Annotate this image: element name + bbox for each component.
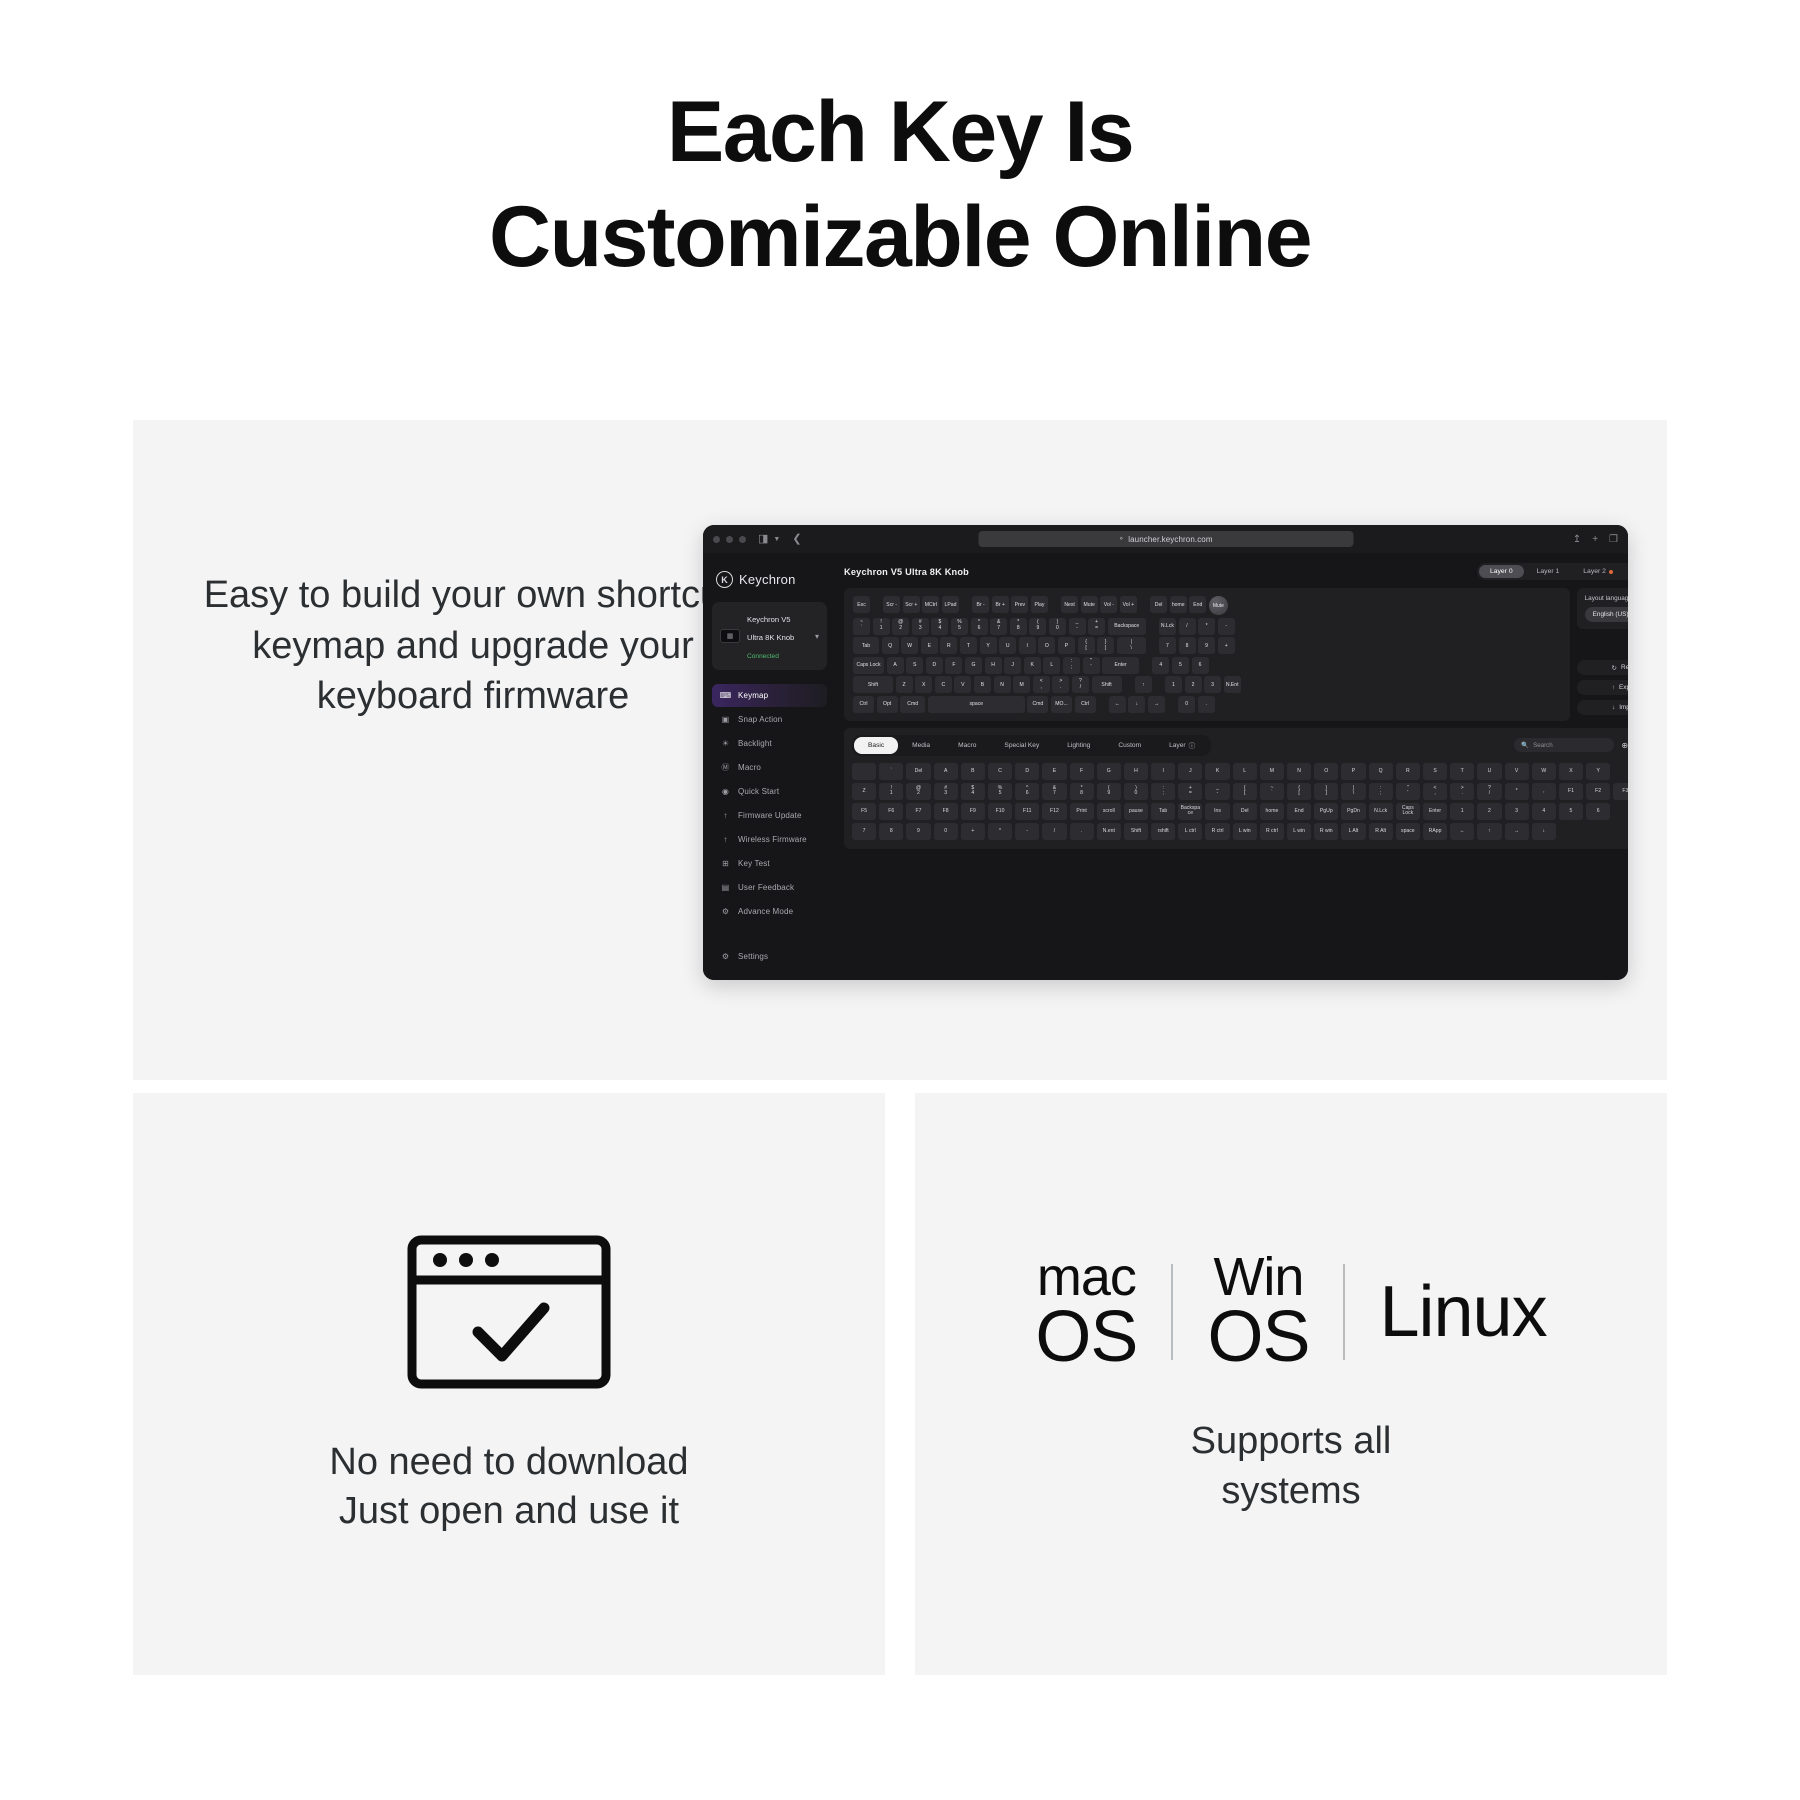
keyboard-key[interactable]: 4 <box>1152 657 1169 674</box>
keyboard-key[interactable]: 3 <box>1204 676 1221 693</box>
firmware-update-icon: ↑ <box>720 810 731 821</box>
picker-key[interactable]: F9 <box>961 803 985 820</box>
picker-key[interactable]: F <box>1070 763 1094 780</box>
close-dot[interactable] <box>713 536 720 543</box>
key-legend-bottom: 4 <box>971 791 974 797</box>
picker-key[interactable]: >. <box>1450 783 1474 800</box>
keyboard-key[interactable]: Prev <box>1011 596 1028 613</box>
keyboard-key[interactable]: Cmd <box>1027 696 1048 713</box>
picker-key[interactable]: #3 <box>934 783 958 800</box>
picker-key[interactable]: Del <box>1233 803 1257 820</box>
picker-grid: `DelABCDEFGHIJKLMNOPQRSTUVWXYZ!1@2#3$4%5… <box>852 763 1628 840</box>
keyboard-key[interactable]: Cmd <box>900 696 925 713</box>
layer-tab-label: Layer 2 <box>1583 568 1606 575</box>
keyboard-key[interactable]: U <box>999 637 1016 654</box>
picker-key[interactable]: }] <box>1314 783 1338 800</box>
keyboard-key[interactable]: P <box>1058 637 1075 654</box>
picker-key[interactable]: A <box>934 763 958 780</box>
picker-key[interactable]: *8 <box>1070 783 1094 800</box>
picker-key[interactable]: P <box>1341 763 1365 780</box>
picker-key[interactable]: 4 <box>1532 803 1556 820</box>
keyboard-key[interactable]: C <box>935 676 952 693</box>
keyboard-key[interactable]: ~` <box>853 618 870 635</box>
picker-key[interactable]: C <box>988 763 1012 780</box>
picker-key[interactable]: N <box>1287 763 1311 780</box>
reset-button[interactable]: ↻Reset <box>1577 660 1628 675</box>
picker-key[interactable]: (9 <box>1097 783 1121 800</box>
os-linux: Linux <box>1379 1271 1546 1353</box>
picker-key[interactable]: F10 <box>988 803 1012 820</box>
layer-tab-1[interactable]: Layer 1 <box>1526 565 1571 578</box>
keyboard-key[interactable]: O <box>1038 637 1055 654</box>
category-tab-media[interactable]: Media <box>898 737 944 754</box>
keymap-area: EscScr -Scr +MCtrlLPadBr -Br +PrevPlayNe… <box>844 588 1628 721</box>
picker-key[interactable]: B <box>961 763 985 780</box>
picker-key[interactable]: F12 <box>1042 803 1066 820</box>
keyboard-key[interactable]: += <box>1088 618 1105 635</box>
keyboard-key[interactable]: Ctrl <box>1075 696 1096 713</box>
key-legend-bottom: \ <box>1353 791 1354 797</box>
share-icon[interactable]: ↥ <box>1573 534 1581 545</box>
picker-key[interactable]: N.ent <box>1097 823 1121 840</box>
picker-key[interactable]: L win <box>1287 823 1311 840</box>
picker-key[interactable]: . <box>1070 823 1094 840</box>
picker-key[interactable]: , <box>1532 783 1556 800</box>
sidebar-item-keymap[interactable]: ⌨Keymap <box>712 684 827 707</box>
category-tab-custom[interactable]: Custom <box>1104 737 1155 754</box>
address-bar[interactable]: ⚬ launcher.keychron.com <box>978 531 1353 547</box>
sidebar-item-backlight[interactable]: ☀Backlight <box>712 732 827 755</box>
keyboard-key[interactable]: End <box>1189 596 1206 613</box>
keyboard-key[interactable]: _- <box>1069 618 1086 635</box>
picker-key[interactable]: pause <box>1124 803 1148 820</box>
picker-key[interactable]: RApp <box>1423 823 1447 840</box>
picker-key[interactable]: D <box>1015 763 1039 780</box>
picker-key[interactable] <box>852 763 876 780</box>
keyboard-key[interactable]: Vol + <box>1120 596 1137 613</box>
keyboard-key[interactable]: → <box>1148 696 1165 713</box>
keyboard-key[interactable]: Esc <box>853 596 870 613</box>
picker-key[interactable]: @2 <box>906 783 930 800</box>
picker-key[interactable]: 3 <box>1505 803 1529 820</box>
picker-key[interactable]: V <box>1505 763 1529 780</box>
picker-key[interactable]: += <box>1178 783 1202 800</box>
picker-key[interactable]: * <box>1505 783 1529 800</box>
picker-key[interactable]: Z <box>852 783 876 800</box>
picker-key[interactable]: :; <box>1369 783 1393 800</box>
keyboard-key[interactable]: L <box>1043 657 1060 674</box>
picker-key[interactable]: PgDn <box>1341 803 1365 820</box>
picker-key[interactable]: Ins <box>1205 803 1229 820</box>
keyboard-key[interactable]: + <box>1218 637 1235 654</box>
sidebar-item-quick-start[interactable]: ◉Quick Start <box>712 780 827 803</box>
app-sidebar: K Keychron ▦ Keychron V5 Ultra 8K Knob C… <box>703 553 836 980</box>
picker-key[interactable]: _- <box>1205 783 1229 800</box>
keyboard-key[interactable]: home <box>1170 596 1187 613</box>
caption-line-1: Supports all <box>1191 1417 1392 1466</box>
keyboard-key[interactable]: |\ <box>1117 637 1146 654</box>
keyboard-key[interactable]: Tab <box>853 637 879 654</box>
keyboard-key[interactable]: Br - <box>972 596 989 613</box>
keyboard-key[interactable]: R <box>940 637 957 654</box>
keyboard-key[interactable]: Play <box>1031 596 1048 613</box>
wireless-firmware-icon: ↑ <box>720 834 731 845</box>
picker-key[interactable]: F11 <box>1015 803 1039 820</box>
picker-key[interactable]: L ctrl <box>1178 823 1202 840</box>
keyboard-key[interactable]: MCtrl <box>922 596 939 613</box>
picker-key[interactable]: Tab <box>1151 803 1175 820</box>
picker-key[interactable]: L Alt <box>1341 823 1365 840</box>
key-legend-bottom: ; <box>1380 791 1381 797</box>
keyboard-key[interactable]: Shift <box>1092 676 1122 693</box>
key-gap <box>1154 676 1162 693</box>
sidebar-item-user-feedback[interactable]: ▤User Feedback <box>712 876 827 899</box>
keyboard-key[interactable]: Next <box>1061 596 1078 613</box>
keyboard-key[interactable]: J <box>1004 657 1021 674</box>
keyboard-key[interactable]: Del <box>1150 596 1167 613</box>
keyboard-row: CtrlOptCmdspaceCmdMO...Ctrl←↓→0. <box>853 696 1561 713</box>
keyboard-key[interactable]: }] <box>1097 637 1114 654</box>
keyboard-key[interactable]: S <box>906 657 923 674</box>
picker-key[interactable]: T <box>1450 763 1474 780</box>
picker-key[interactable]: PgUp <box>1314 803 1338 820</box>
key-legend-bottom: 5 <box>999 791 1002 797</box>
sidebar-nav: ⌨Keymap▣Snap Action☀BacklightⓂMacro◉Quic… <box>712 684 827 923</box>
keyboard-key[interactable]: *8 <box>1010 618 1027 635</box>
keyboard-key[interactable]: Z <box>896 676 913 693</box>
zoom-in-icon[interactable]: ⊕ <box>1621 741 1628 750</box>
keyboard-key[interactable]: LPad <box>942 596 959 613</box>
category-tab-lighting[interactable]: Lighting <box>1053 737 1104 754</box>
keyboard-key[interactable]: ↑ <box>1135 676 1152 693</box>
chevron-down-icon[interactable]: ▼ <box>773 536 780 543</box>
picker-key[interactable]: Enter <box>1423 803 1447 820</box>
keyboard-key[interactable]: ↓ <box>1128 696 1145 713</box>
keyboard-key[interactable]: T <box>960 637 977 654</box>
picker-key[interactable]: ~` <box>1260 783 1284 800</box>
keyboard-key[interactable]: @2 <box>892 618 909 635</box>
keyboard-key[interactable]: &7 <box>990 618 1007 635</box>
key-gap <box>1168 696 1176 713</box>
keyboard-key[interactable]: W <box>901 637 918 654</box>
picker-key[interactable]: 9 <box>906 823 930 840</box>
keyboard-key[interactable]: G <box>965 657 982 674</box>
layer-tab-3[interactable]: Layer 3 <box>1626 565 1628 578</box>
keyboard-key[interactable]: N <box>994 676 1011 693</box>
lock-icon: ⚬ <box>1118 535 1124 543</box>
picker-key[interactable]: )0 <box>1124 783 1148 800</box>
keyboard-key[interactable]: "' <box>1083 657 1100 674</box>
feature-card-supported-systems: mac OS Win OS Linux Supports all systems <box>915 1093 1667 1675</box>
keyboard-row: EscScr -Scr +MCtrlLPadBr -Br +PrevPlayNe… <box>853 596 1561 615</box>
keyboard-key[interactable]: {[ <box>1078 637 1095 654</box>
keyboard-key[interactable]: space <box>928 696 1025 713</box>
category-tab-basic[interactable]: Basic <box>854 737 898 754</box>
reset-icon: ↻ <box>1612 664 1617 672</box>
export-button[interactable]: ↑Export <box>1577 680 1628 695</box>
keyboard-key[interactable]: Enter <box>1102 657 1139 674</box>
new-tab-icon[interactable]: + <box>1592 534 1598 545</box>
key-legend-bottom: ' <box>1407 791 1408 797</box>
tabs-icon[interactable]: ❐ <box>1609 534 1618 545</box>
keyboard-key[interactable]: A <box>887 657 904 674</box>
keyboard-key[interactable]: !1 <box>873 618 890 635</box>
keyboard-key[interactable]: I <box>1019 637 1036 654</box>
keyboard-key[interactable]: ?/ <box>1072 676 1089 693</box>
maximize-dot[interactable] <box>739 536 746 543</box>
keyboard-key[interactable]: B <box>974 676 991 693</box>
picker-key[interactable]: 1 <box>1450 803 1474 820</box>
keyboard-key[interactable]: M <box>1013 676 1030 693</box>
picker-key[interactable]: 2 <box>1477 803 1501 820</box>
key-gap <box>1098 696 1106 713</box>
category-tab-layer[interactable]: Layerⓘ <box>1155 737 1209 754</box>
keyboard-key[interactable]: 9 <box>1198 637 1215 654</box>
keyboard-key[interactable]: 1 <box>1165 676 1182 693</box>
picker-key[interactable]: |\ <box>1341 783 1365 800</box>
picker-key[interactable]: K <box>1205 763 1229 780</box>
keyboard-key[interactable]: 6 <box>1192 657 1209 674</box>
action-label: Import <box>1619 704 1628 711</box>
picker-key[interactable]: Del <box>906 763 930 780</box>
picker-key[interactable]: U <box>1477 763 1501 780</box>
sidebar-item-key-test[interactable]: ⊞Key Test <box>712 852 827 875</box>
keymap-actions: ↻Reset↑Export↓Import <box>1577 660 1628 715</box>
top-card-description: Easy to build your own shortcut, keymap … <box>193 570 753 722</box>
sidebar-item-settings[interactable]: ⚙ Settings <box>712 945 827 968</box>
picker-key[interactable]: R <box>1396 763 1420 780</box>
key-legend-bottom: ` <box>1271 791 1273 797</box>
import-button[interactable]: ↓Import <box>1577 700 1628 715</box>
keyboard-key[interactable]: H <box>985 657 1002 674</box>
picker-key[interactable]: → <box>1505 823 1529 840</box>
picker-key[interactable]: ^6 <box>1015 783 1039 800</box>
picker-key[interactable]: &7 <box>1042 783 1066 800</box>
picker-key[interactable]: {[ <box>1233 783 1257 800</box>
keyboard-key[interactable]: Br + <box>992 596 1009 613</box>
keyboard-key[interactable]: X <box>915 676 932 693</box>
picker-key[interactable]: <, <box>1423 783 1447 800</box>
window-controls[interactable] <box>713 536 746 543</box>
keyboard-key[interactable]: F <box>945 657 962 674</box>
picker-key[interactable]: E <box>1042 763 1066 780</box>
keyboard-key[interactable]: N.Ent <box>1224 676 1241 693</box>
layer-tab-2[interactable]: Layer 2 <box>1572 565 1624 578</box>
keyboard-key[interactable]: Mute <box>1081 596 1098 613</box>
page-title: Each Key Is Customizable Online <box>0 0 1800 290</box>
picker-key[interactable]: 7 <box>852 823 876 840</box>
keyboard-key[interactable]: ^6 <box>971 618 988 635</box>
keyboard-key[interactable]: Y <box>980 637 997 654</box>
divider <box>1171 1264 1173 1360</box>
feature-card-no-download: No need to download Just open and use it <box>133 1093 885 1675</box>
picker-key[interactable]: H <box>1124 763 1148 780</box>
keyboard-key[interactable]: Shift <box>853 676 893 693</box>
keyboard-key[interactable]: Opt <box>877 696 898 713</box>
key-legend-bottom: , <box>1041 685 1042 691</box>
picker-key[interactable]: N.Lck <box>1369 803 1393 820</box>
picker-key[interactable]: ↓ <box>1532 823 1556 840</box>
picker-key[interactable]: CapsLock <box>1396 803 1420 820</box>
keyboard-key[interactable]: Q <box>882 637 899 654</box>
keyboard-key[interactable]: Scr - <box>883 596 900 613</box>
picker-key[interactable]: - <box>1015 823 1039 840</box>
key-gap <box>1140 596 1148 615</box>
keyboard-key[interactable]: . <box>1198 696 1215 713</box>
keyboard-key[interactable]: 0 <box>1178 696 1195 713</box>
picker-key[interactable]: rshift <box>1151 823 1175 840</box>
picker-key[interactable]: ?/ <box>1477 783 1501 800</box>
picker-key[interactable]: S <box>1423 763 1447 780</box>
picker-key[interactable]: 8 <box>879 823 903 840</box>
key-legend-bottom: ] <box>1105 646 1106 652</box>
picker-key[interactable]: F6 <box>879 803 903 820</box>
keyboard-key[interactable]: #3 <box>912 618 929 635</box>
os-winos-suffix: OS <box>1207 1303 1309 1371</box>
picker-key[interactable]: "' <box>1396 783 1420 800</box>
key-legend-bottom: 6 <box>978 626 981 632</box>
device-selector[interactable]: ▦ Keychron V5 Ultra 8K Knob Connected ▾ <box>712 602 827 670</box>
picker-key[interactable]: F2 <box>1586 783 1610 800</box>
picker-key[interactable]: 6 <box>1586 803 1610 820</box>
no-download-caption: No need to download Just open and use it <box>329 1438 688 1537</box>
keyboard-key[interactable]: (9 <box>1029 618 1046 635</box>
rotary-knob[interactable]: Mute <box>1209 596 1228 615</box>
picker-key[interactable]: F5 <box>852 803 876 820</box>
picker-key[interactable]: ` <box>879 763 903 780</box>
layout-language-value: English (US) <box>1593 611 1628 618</box>
chevron-left-icon[interactable]: ❮ <box>792 534 801 545</box>
layer-tab-0[interactable]: Layer 0 <box>1479 565 1524 578</box>
snap-action-icon: ▣ <box>720 714 731 725</box>
category-tab-special-key[interactable]: Special Key <box>990 737 1053 754</box>
search-placeholder: Search <box>1533 742 1553 749</box>
sidebar-item-firmware-update[interactable]: ↑Firmware Update <box>712 804 827 827</box>
picker-key[interactable]: 0 <box>934 823 958 840</box>
search-input[interactable]: 🔍 Search <box>1514 738 1614 752</box>
picker-key[interactable]: F8 <box>934 803 958 820</box>
keyboard-key[interactable]: 8 <box>1179 637 1196 654</box>
picker-key[interactable]: R ctrl <box>1205 823 1229 840</box>
sidebar-icon[interactable]: ◨ <box>758 534 768 545</box>
picker-key[interactable]: :; <box>1151 783 1175 800</box>
layer-modified-dot <box>1609 570 1613 574</box>
keyboard-key[interactable]: ← <box>1109 696 1126 713</box>
key-legend-bottom: 7 <box>1053 791 1056 797</box>
picker-key[interactable]: J <box>1178 763 1202 780</box>
picker-key[interactable]: Y <box>1586 763 1610 780</box>
keyboard-key[interactable]: * <box>1198 618 1215 635</box>
picker-key[interactable]: R win <box>1314 823 1338 840</box>
picker-key[interactable]: {[ <box>1287 783 1311 800</box>
picker-key[interactable]: home <box>1260 803 1284 820</box>
key-legend-bottom: 0 <box>1056 626 1059 632</box>
key-gap <box>1148 618 1156 635</box>
sidebar-item-advance-mode[interactable]: ⚙Advance Mode <box>712 900 827 923</box>
keyboard-key[interactable]: - <box>1218 618 1235 635</box>
keyboard-key[interactable]: K <box>1024 657 1041 674</box>
key-legend-bottom: 6 <box>1026 791 1029 797</box>
picker-key[interactable]: R ctrl <box>1260 823 1284 840</box>
picker-key[interactable]: 5 <box>1559 803 1583 820</box>
picker-key[interactable]: / <box>1042 823 1066 840</box>
keyboard-key[interactable]: Backspace <box>1108 618 1146 635</box>
picker-key[interactable]: * <box>988 823 1012 840</box>
picker-key[interactable]: Backspace <box>1178 803 1202 820</box>
keyboard-key[interactable]: :; <box>1063 657 1080 674</box>
picker-key[interactable]: L <box>1233 763 1257 780</box>
picker-key[interactable]: F1 <box>1559 783 1583 800</box>
picker-key[interactable]: O <box>1314 763 1338 780</box>
picker-key[interactable]: Print <box>1070 803 1094 820</box>
key-legend-bottom: / <box>1080 685 1081 691</box>
picker-key[interactable]: M <box>1260 763 1284 780</box>
sidebar-item-snap-action[interactable]: ▣Snap Action <box>712 708 827 731</box>
keyboard-key[interactable]: N.Lck <box>1159 618 1176 635</box>
picker-key[interactable]: %5 <box>988 783 1012 800</box>
picker-key[interactable]: L win <box>1233 823 1257 840</box>
key-legend-bottom: 4 <box>938 626 941 632</box>
picker-key[interactable]: ← <box>1450 823 1474 840</box>
keyboard-key[interactable]: D <box>926 657 943 674</box>
picker-key[interactable]: space <box>1396 823 1420 840</box>
picker-key[interactable]: + <box>961 823 985 840</box>
keyboard-key[interactable]: 7 <box>1159 637 1176 654</box>
keyboard-key[interactable]: )0 <box>1049 618 1066 635</box>
keyboard-key[interactable]: >. <box>1052 676 1069 693</box>
chevron-down-icon[interactable]: ▾ <box>815 632 819 641</box>
key-legend-bottom: , <box>1434 791 1435 797</box>
picker-key[interactable]: I <box>1151 763 1175 780</box>
sidebar-item-wireless-firmware[interactable]: ↑Wireless Firmware <box>712 828 827 851</box>
keyboard-row: ~`!1@2#3$4%5^6&7*8(9)0_-+=BackspaceN.Lck… <box>853 618 1561 635</box>
keyboard-key[interactable]: <, <box>1033 676 1050 693</box>
picker-key[interactable]: W <box>1532 763 1556 780</box>
keyboard-key[interactable]: %5 <box>951 618 968 635</box>
category-tab-macro[interactable]: Macro <box>944 737 990 754</box>
picker-key[interactable]: scroll <box>1097 803 1121 820</box>
keyboard-key[interactable]: Caps Lock <box>853 657 884 674</box>
feature-card-top: Easy to build your own shortcut, keymap … <box>133 420 1667 1080</box>
minimize-dot[interactable] <box>726 536 733 543</box>
layer-tab-label: Layer 0 <box>1490 568 1513 575</box>
keyboard-key[interactable]: 5 <box>1172 657 1189 674</box>
picker-key[interactable]: F7 <box>906 803 930 820</box>
picker-key[interactable]: ↑ <box>1477 823 1501 840</box>
keyboard-key[interactable]: Scr + <box>903 596 920 613</box>
sidebar-item-macro[interactable]: ⓂMacro <box>712 756 827 779</box>
keyboard-key[interactable]: 2 <box>1185 676 1202 693</box>
picker-key[interactable]: F3 <box>1613 783 1628 800</box>
keyboard-key[interactable]: MO... <box>1051 696 1072 713</box>
picker-key[interactable]: Q <box>1369 763 1393 780</box>
picker-key[interactable]: X <box>1559 763 1583 780</box>
picker-key[interactable]: Shift <box>1124 823 1148 840</box>
keyboard-key[interactable]: V <box>954 676 971 693</box>
keyboard-key[interactable]: Vol - <box>1100 596 1117 613</box>
picker-key[interactable]: End <box>1287 803 1311 820</box>
picker-key[interactable]: G <box>1097 763 1121 780</box>
picker-key[interactable]: $4 <box>961 783 985 800</box>
picker-key[interactable]: R Alt <box>1369 823 1393 840</box>
keyboard-key[interactable]: $4 <box>931 618 948 635</box>
keyboard-key[interactable]: Ctrl <box>853 696 874 713</box>
keyboard-key[interactable]: / <box>1179 618 1196 635</box>
keyboard-key[interactable]: E <box>921 637 938 654</box>
picker-key[interactable]: !1 <box>879 783 903 800</box>
key-legend-bottom: 3 <box>944 791 947 797</box>
layout-language-select[interactable]: English (US) ▾ <box>1585 607 1628 622</box>
